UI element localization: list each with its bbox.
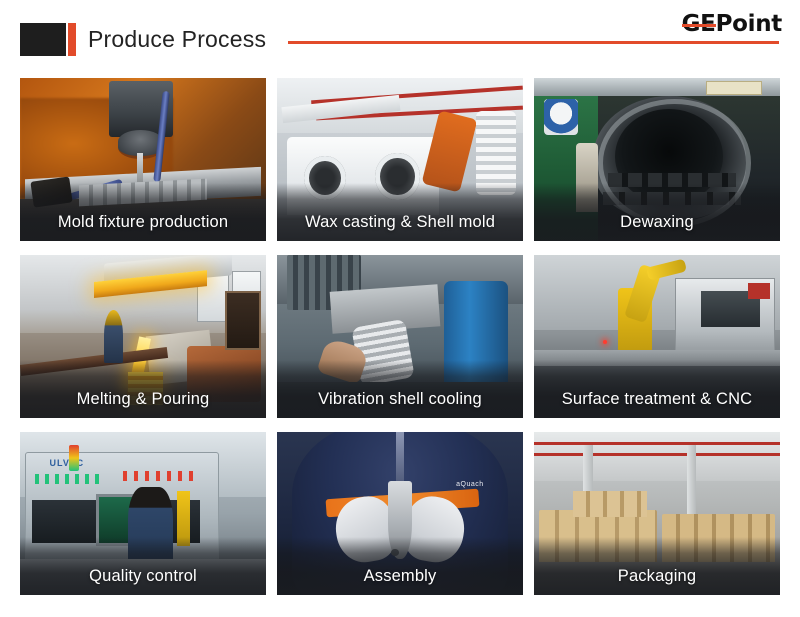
photo-detail-boxes3 bbox=[573, 491, 647, 517]
process-card-surface-treatment-cnc[interactable]: Surface treatment & CNC bbox=[534, 255, 780, 418]
caption-overlay: Dewaxing bbox=[534, 183, 780, 241]
caption-overlay: Quality control bbox=[20, 537, 266, 595]
process-card-vibration-shell-cooling[interactable]: Vibration shell cooling bbox=[277, 255, 523, 418]
photo-detail-sign2 bbox=[544, 99, 578, 135]
photo-detail-bit bbox=[137, 153, 143, 182]
brand-logo-strike-icon bbox=[682, 24, 716, 27]
process-card-packaging[interactable]: Packaging bbox=[534, 432, 780, 595]
process-card-wax-casting-shell-mold[interactable]: Wax casting & Shell mold bbox=[277, 78, 523, 241]
caption-overlay: Melting & Pouring bbox=[20, 360, 266, 418]
card-caption-label: Assembly bbox=[364, 567, 437, 586]
brand-logo: GEPoint bbox=[682, 11, 782, 37]
card-caption-label: Vibration shell cooling bbox=[318, 390, 482, 409]
card-caption-label: Dewaxing bbox=[620, 213, 694, 232]
process-card-melting-pouring[interactable]: Melting & Pouring bbox=[20, 255, 266, 418]
photo-detail-led bbox=[603, 340, 607, 344]
photo-detail-worker bbox=[104, 310, 124, 362]
card-caption-label: Mold fixture production bbox=[58, 213, 228, 232]
caption-overlay: Surface treatment & CNC bbox=[534, 360, 780, 418]
photo-detail-redpanel bbox=[748, 283, 770, 299]
photo-detail-rpipe1 bbox=[534, 442, 780, 446]
photo-detail-zip bbox=[396, 432, 403, 487]
card-caption-label: Packaging bbox=[618, 567, 696, 586]
photo-detail-ceil bbox=[534, 432, 780, 481]
photo-detail-tower bbox=[69, 445, 79, 471]
header-divider-rule bbox=[288, 41, 779, 44]
caption-overlay: Wax casting & Shell mold bbox=[277, 183, 523, 241]
process-card-dewaxing[interactable]: Dewaxing bbox=[534, 78, 780, 241]
process-card-quality-control[interactable]: ULVACQuality control bbox=[20, 432, 266, 595]
photo-detail-sign bbox=[706, 81, 762, 94]
photo-detail-lights bbox=[35, 474, 99, 484]
photo-detail-panel bbox=[225, 291, 261, 350]
caption-overlay: Assembly bbox=[277, 537, 523, 595]
caption-overlay: Mold fixture production bbox=[20, 183, 266, 241]
header-block-mark bbox=[20, 23, 66, 56]
caption-overlay: Packaging bbox=[534, 537, 780, 595]
caption-overlay: Vibration shell cooling bbox=[277, 360, 523, 418]
card-caption-label: Surface treatment & CNC bbox=[562, 390, 753, 409]
page-header: Produce Process GEPoint bbox=[0, 0, 800, 78]
photo-detail-logo-t: aQuach bbox=[456, 481, 484, 488]
process-card-assembly[interactable]: aQuachAssembly bbox=[277, 432, 523, 595]
page-title: Produce Process bbox=[88, 22, 266, 56]
header-accent-bar bbox=[68, 23, 76, 56]
process-card-grid: Mold fixture productionWax casting & She… bbox=[20, 78, 780, 595]
photo-detail-rpipe2 bbox=[534, 453, 780, 456]
card-caption-label: Melting & Pouring bbox=[77, 390, 210, 409]
card-caption-label: Quality control bbox=[89, 567, 197, 586]
photo-detail-lights2 bbox=[123, 471, 197, 481]
process-card-mold-fixture-production[interactable]: Mold fixture production bbox=[20, 78, 266, 241]
card-caption-label: Wax casting & Shell mold bbox=[305, 213, 495, 232]
